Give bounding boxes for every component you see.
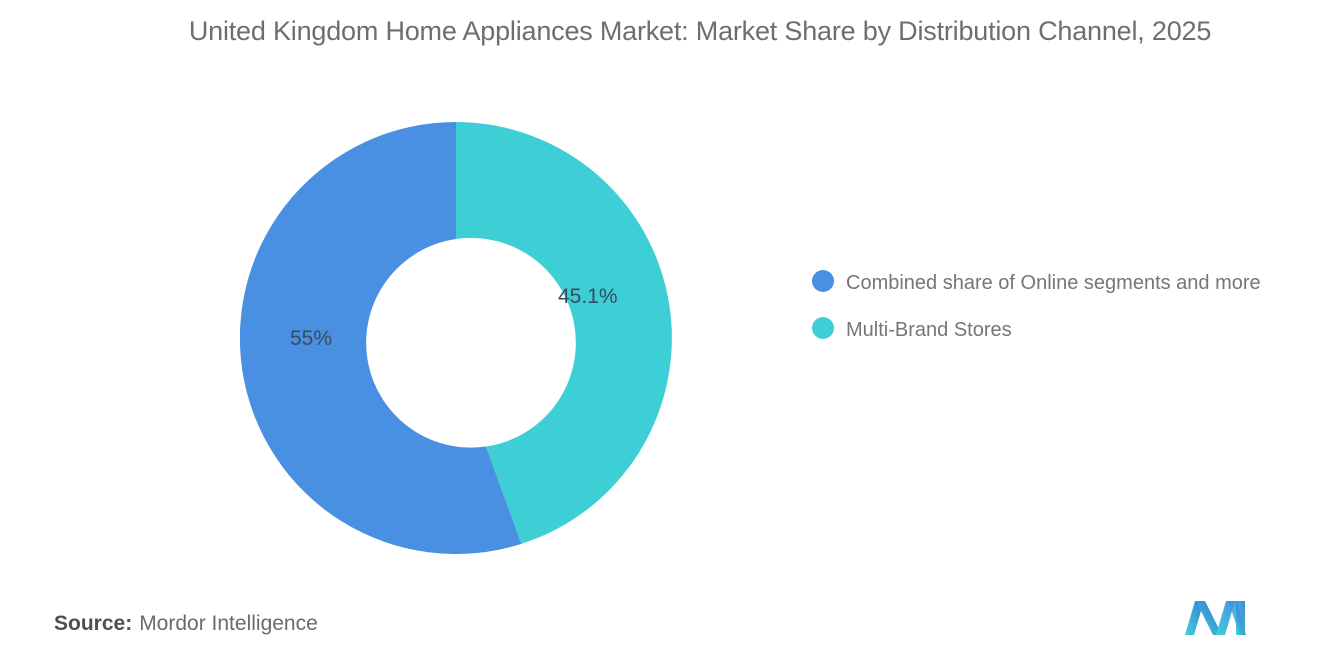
legend-item-label: Combined share of Online segments and mo… <box>846 268 1261 299</box>
donut-chart: 55% 45.1% <box>240 122 672 554</box>
legend-color-swatch-icon <box>812 270 834 292</box>
slice-label-multi-brand-stores: 45.1% <box>558 285 618 309</box>
legend-item-multi-brand-stores[interactable]: Multi-Brand Stores <box>812 315 1272 346</box>
chart-legend: Combined share of Online segments and mo… <box>812 268 1272 346</box>
legend-item-combined-online-segments[interactable]: Combined share of Online segments and mo… <box>812 268 1272 299</box>
chart-title: United Kingdom Home Appliances Market: M… <box>160 10 1240 52</box>
legend-item-label: Multi-Brand Stores <box>846 315 1012 346</box>
legend-color-swatch-icon <box>812 317 834 339</box>
source-line: Source:Mordor Intelligence <box>54 612 318 636</box>
source-label: Source: <box>54 612 132 635</box>
mordor-intelligence-logo-icon <box>1184 599 1254 637</box>
slice-label-combined-online-segments: 55% <box>290 327 332 351</box>
source-value: Mordor Intelligence <box>139 612 318 635</box>
